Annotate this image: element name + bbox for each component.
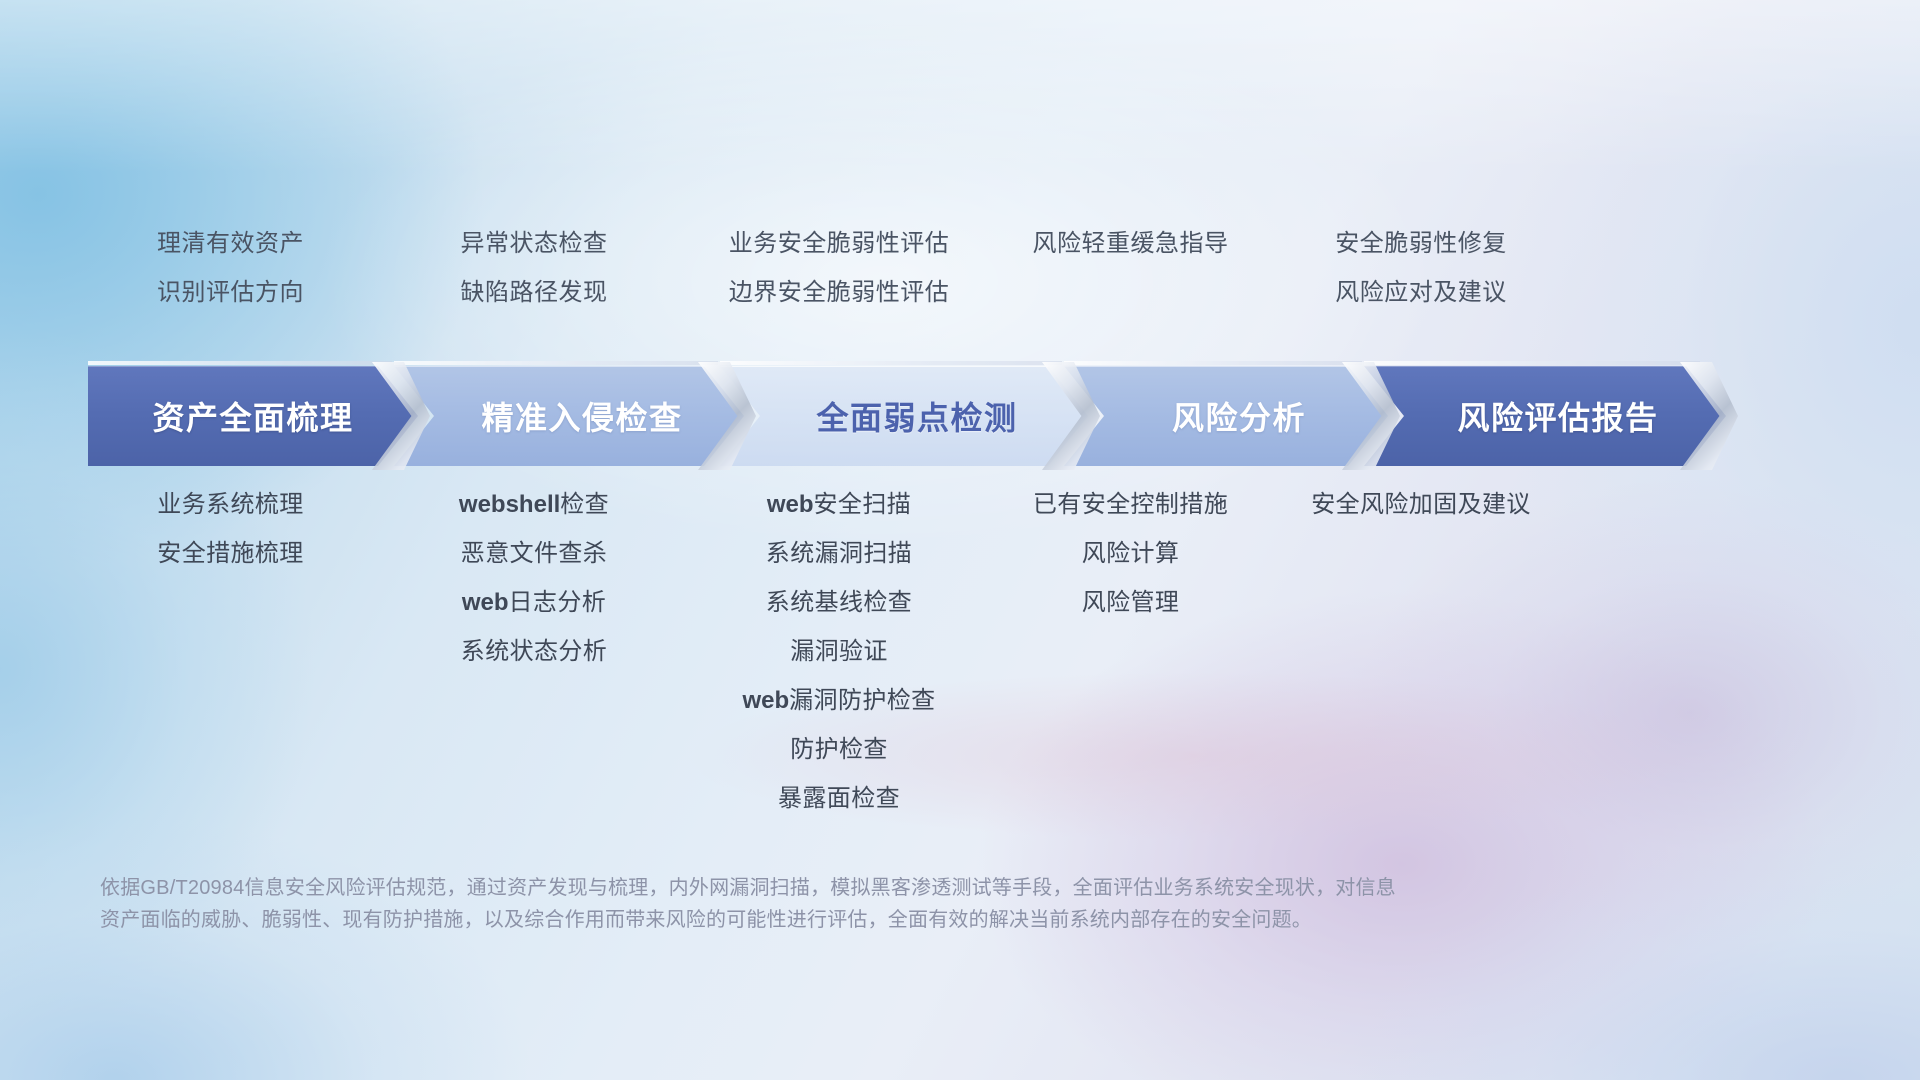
top-notes-row: 理清有效资产 识别评估方向 异常状态检查 缺陷路径发现 业务安全脆弱性评估 边界… — [88, 232, 1864, 305]
list-item: 安全措施梳理 — [88, 542, 373, 566]
column-gap — [1257, 493, 1278, 811]
stage-title: 风险评估报告 — [1431, 393, 1658, 439]
list-item: 暴露面检查 — [695, 787, 983, 811]
top-notes-intrusion-check: 异常状态检查 缺陷路径发现 — [394, 232, 674, 305]
list-item: web日志分析 — [394, 591, 674, 615]
column-gap — [983, 493, 1004, 811]
top-notes-asset-inventory: 理清有效资产 识别评估方向 — [88, 232, 373, 305]
top-note: 缺陷路径发现 — [394, 281, 674, 305]
top-notes-weakness-detection: 业务安全脆弱性评估 边界安全脆弱性评估 — [695, 232, 983, 305]
chevron-top-highlight — [88, 361, 392, 365]
list-item: 系统状态分析 — [394, 640, 674, 664]
top-note: 风险轻重缓急指导 — [1004, 232, 1257, 256]
column-gap — [674, 493, 695, 811]
process-diagram: 理清有效资产 识别评估方向 异常状态检查 缺陷路径发现 业务安全脆弱性评估 边界… — [0, 0, 1920, 1080]
stage-chevron-risk-analysis[interactable]: 风险分析 — [1064, 366, 1388, 466]
chevron-top-highlight — [1364, 361, 1700, 365]
list-item: web安全扫描 — [695, 493, 983, 517]
footer-line: 依据GB/T20984信息安全风险评估规范，通过资产发现与梳理，内外网漏洞扫描，… — [100, 872, 1620, 904]
top-notes-risk-report: 安全脆弱性修复 风险应对及建议 — [1278, 232, 1564, 305]
stage-items-weakness-detection: web安全扫描 系统漏洞扫描 系统基线检查 漏洞验证 web漏洞防护检查 防护检… — [695, 493, 983, 811]
top-note: 业务安全脆弱性评估 — [695, 232, 983, 256]
stage-items-risk-analysis: 已有安全控制措施 风险计算 风险管理 — [1004, 493, 1257, 811]
top-note: 边界安全脆弱性评估 — [695, 281, 983, 305]
stage-title: 风险分析 — [1146, 393, 1306, 439]
list-item: 漏洞验证 — [695, 640, 983, 664]
stage-title: 全面弱点检测 — [790, 393, 1017, 439]
stage-items-asset-inventory: 业务系统梳理 安全措施梳理 — [88, 493, 373, 811]
stage-chevron-weakness-detection[interactable]: 全面弱点检测 — [720, 366, 1088, 466]
stage-title: 资产全面梳理 — [152, 393, 353, 439]
chevron-top-highlight — [1064, 361, 1362, 365]
column-gap — [983, 232, 1004, 305]
column-gap — [1257, 232, 1278, 305]
stage-items-row: 业务系统梳理 安全措施梳理 webshell检查 恶意文件查杀 web日志分析 … — [88, 493, 1864, 811]
list-item: web漏洞防护检查 — [695, 689, 983, 713]
stage-chevron-risk-report[interactable]: 风险评估报告 — [1364, 366, 1726, 466]
chevron-top-highlight — [394, 361, 718, 365]
list-item: 已有安全控制措施 — [1004, 493, 1257, 517]
top-note: 理清有效资产 — [88, 232, 373, 256]
stage-chevron-asset-inventory[interactable]: 资产全面梳理 — [88, 366, 418, 466]
list-item: 业务系统梳理 — [88, 493, 373, 517]
list-item: 风险计算 — [1004, 542, 1257, 566]
top-note: 安全脆弱性修复 — [1278, 232, 1564, 256]
list-item: 风险管理 — [1004, 591, 1257, 615]
footer-line: 资产面临的威胁、脆弱性、现有防护措施，以及综合作用而带来风险的可能性进行评估，全… — [100, 904, 1620, 936]
column-gap — [373, 493, 394, 811]
list-item: 系统漏洞扫描 — [695, 542, 983, 566]
chevron-top-highlight — [720, 361, 1062, 365]
top-note: 识别评估方向 — [88, 281, 373, 305]
stage-title: 精准入侵检查 — [455, 393, 682, 439]
list-item: 系统基线检查 — [695, 591, 983, 615]
process-chevron-band: 资产全面梳理 精准入侵检查 全面弱点检测 风险分析 风险评估报告 — [88, 366, 1866, 466]
list-item: 防护检查 — [695, 738, 983, 762]
column-gap — [674, 232, 695, 305]
list-item: 安全风险加固及建议 — [1278, 493, 1564, 517]
stage-chevron-intrusion-check[interactable]: 精准入侵检查 — [394, 366, 744, 466]
list-item: 恶意文件查杀 — [394, 542, 674, 566]
list-item: webshell检查 — [394, 493, 674, 517]
top-notes-risk-analysis: 风险轻重缓急指导 — [1004, 232, 1257, 305]
stage-items-risk-report: 安全风险加固及建议 — [1278, 493, 1564, 811]
stage-items-intrusion-check: webshell检查 恶意文件查杀 web日志分析 系统状态分析 — [394, 493, 674, 811]
column-gap — [373, 232, 394, 305]
top-note: 风险应对及建议 — [1278, 281, 1564, 305]
top-note: 异常状态检查 — [394, 232, 674, 256]
footer-description: 依据GB/T20984信息安全风险评估规范，通过资产发现与梳理，内外网漏洞扫描，… — [100, 872, 1620, 937]
